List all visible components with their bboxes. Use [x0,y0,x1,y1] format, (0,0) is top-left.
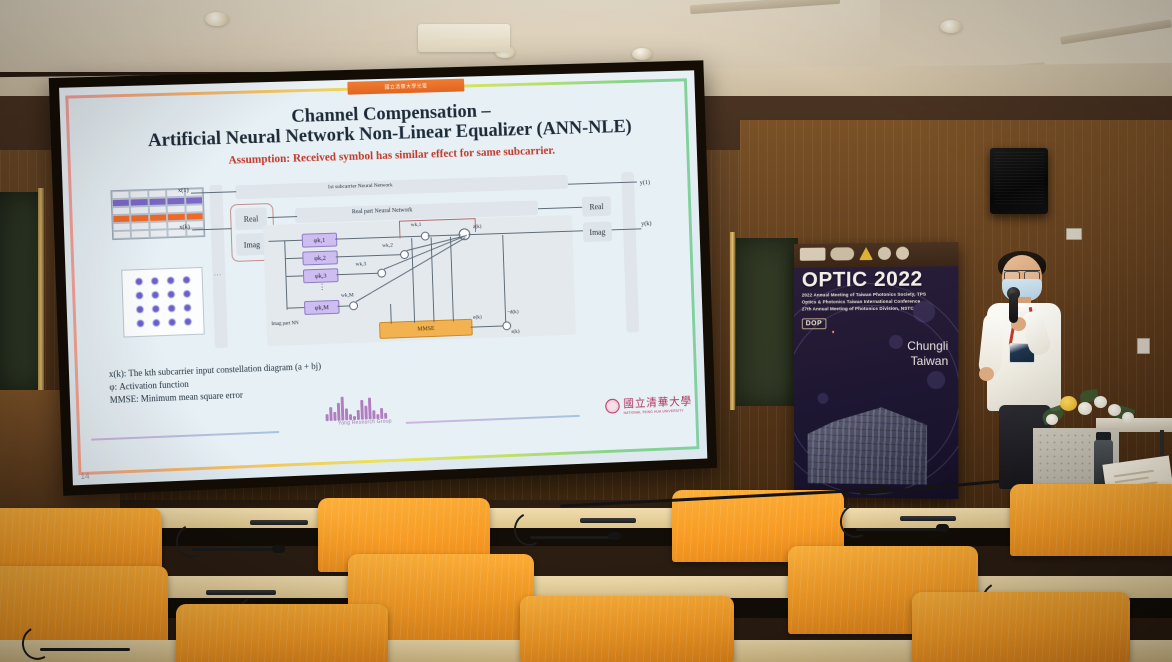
sponsor-logo-2-icon [830,247,854,260]
presentation-slide: 國立清華大學光電 Channel Compensation – Artifici… [59,70,707,485]
constellation-point [135,278,142,285]
constellation-point [169,319,176,326]
constellation-point [136,292,143,299]
flower-white [1078,402,1092,415]
banner-location-country: Taiwan [907,354,948,369]
banner-location-city: Chungli [907,339,948,354]
constellation-point [184,304,191,311]
microphone-capsule [936,524,949,532]
chalkboard-frame [38,188,44,396]
lecture-hall-scene: 國立清華大學光電 Channel Compensation – Artifici… [0,0,1172,662]
paper-line [1115,477,1149,483]
output-top-label: y(1) [640,179,651,186]
activation-node-3: φk,3 [303,268,339,283]
banner-title: OPTIC 2022 [802,268,923,293]
auditorium-seat [176,604,388,662]
output-real-label: Real [589,202,603,211]
constellation-point [152,305,159,312]
constellation-point [183,276,190,283]
signal-s-label: s(k) [511,329,519,335]
rail-ellipsis: ⋯ [213,270,221,279]
flower-white [1108,404,1121,416]
slide-tab-label: 國立清華大學光電 [384,83,427,91]
constellation-point [184,318,191,325]
fan-logo-icon [832,313,854,333]
banner-location: Chungli Taiwan [907,339,948,369]
wire-real-to-band [268,216,297,218]
weight-label-m: wk,M [341,292,354,298]
projection-screen: 國立清華大學光電 Channel Compensation – Artifici… [49,60,717,496]
signal-e-label: e(k) [473,314,482,320]
dop-logo-row: DOP [802,313,854,333]
flower-white [1122,412,1134,423]
nthu-seal-icon [605,398,620,413]
downlight-icon [205,12,229,26]
constellation-point [152,291,159,298]
desk-edge-trim [250,520,308,525]
input-rail [209,185,227,348]
decorative-orb [889,335,903,349]
sponsor-logos [800,247,909,261]
constellation-diagram [121,267,205,338]
chalkboard-frame-right [730,232,735,410]
output-real-block: Real [582,196,611,217]
input-top-label: x(1) [178,187,189,194]
constellation-point [183,290,190,297]
flower-white [1094,396,1107,408]
slide-page-number: 14 [80,472,89,481]
glasses-icon [1004,270,1040,279]
ann-nle-diagram: x(1) x(k) y(1) y(k) ⋯ 1st subcarrier Neu… [78,168,687,357]
flower-yellow [1060,396,1077,411]
banner-subtitle: 2022 Annual Meeting of Taiwan Photonics … [802,290,951,312]
desk-edge-trim [900,516,956,521]
wall-speaker [990,148,1048,214]
activation-node-3-label: φk,3 [315,272,327,279]
university-logo: 國立清華大學 NATIONAL TSING HUA UNIVERSITY [605,393,693,416]
desk-edge-trim [206,590,276,595]
banner-subtitle-line3: 27th Annual Meeting of Photonics Divisio… [802,305,951,313]
projector-mount [418,24,510,52]
mmse-label: MMSE [417,326,434,333]
constellation-point [167,277,174,284]
conference-banner: OPTIC 2022 2022 Annual Meeting of Taiwan… [794,242,958,499]
handheld-microphone [1009,293,1018,323]
chalkboard-right [736,238,798,406]
desk-edge-trim [580,518,636,523]
activation-node-2: φk,2 [302,250,338,265]
output-imag-label: Imag [589,227,605,236]
constellation-point [168,291,175,298]
mmse-block: MMSE [379,319,473,339]
speaker-grill [994,152,1044,204]
sponsor-logo-1-icon [800,248,826,261]
downlight-icon [632,48,652,60]
imag-part-nn-label: Imag part NN [271,321,298,327]
activation-node-m: φk,M [304,300,340,315]
weight-label-1: wk,1 [411,222,422,228]
microphone-stem [40,648,130,651]
input-real-label: Real [244,214,259,223]
sponsor-logo-5-icon [896,247,909,260]
constellation-point [151,277,158,284]
constellation-point [153,319,160,326]
research-group-waveform-icon [325,393,396,421]
flower-arrangement [1040,388,1140,436]
auditorium-seat [912,592,1130,662]
constellation-point [136,306,143,313]
flower-white [1046,414,1058,425]
microphone-capsule [272,545,285,553]
weight-label-3: wk,3 [355,261,366,267]
activation-node-1: φk,1 [302,233,338,248]
activation-node-m-label: φk,M [315,304,329,311]
input-k-label: x(k) [179,224,190,231]
microphone-capsule [608,532,621,540]
decorative-orb [818,393,829,404]
activation-node-2-label: φk,2 [314,254,326,261]
weight-label-2: wk,2 [382,243,393,249]
wall-outlet[interactable] [1137,338,1150,354]
dop-badge: DOP [802,318,826,329]
sponsor-logo-3-icon [859,247,873,260]
auditorium-seat [1010,484,1172,556]
hand-right [979,367,994,381]
wall-light-switch[interactable] [1066,228,1082,240]
signal-minus-d-label: −d(k) [507,309,519,315]
auditorium-seat [520,596,734,662]
constellation-point [137,320,144,327]
decorative-orb [927,371,945,389]
screen-canvas: 國立清華大學光電 Channel Compensation – Artifici… [59,70,707,485]
constellation-point [168,305,175,312]
input-imag-label: Imag [244,240,260,249]
downlight-icon [940,20,962,33]
output-rail [621,172,639,333]
wire-band-to-out-real [538,207,582,209]
activation-node-ellipsis: ⋮ [318,283,326,292]
activation-node-1-label: φk,1 [314,236,326,243]
signal-z-label: z(k) [473,224,482,230]
sponsor-logo-4-icon [878,247,891,260]
output-imag-block: Imag [583,222,612,243]
output-k-label: y(k) [641,220,652,227]
